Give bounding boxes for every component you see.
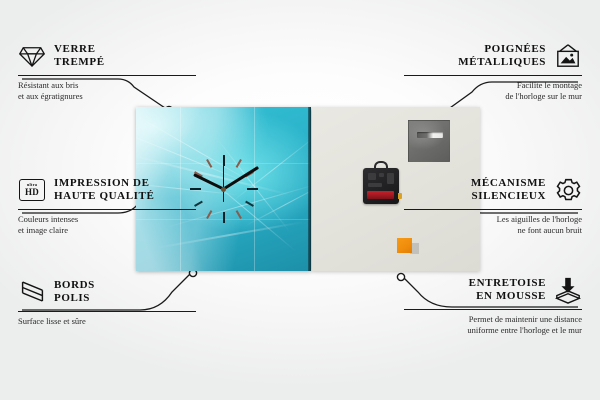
clock-mechanism (363, 168, 399, 204)
feature-rule (404, 309, 582, 310)
feature-description: Couleurs intenses et image claire (18, 214, 196, 236)
feature-title: VERRE TREMPÉ (54, 43, 105, 69)
feature-title: ENTRETOISE EN MOUSSE (469, 277, 546, 303)
feature-poignees-metalliques: POIGNÉES MÉTALLIQUES Facilite le montage… (404, 42, 582, 102)
feature-title: IMPRESSION DE HAUTE QUALITÉ (54, 177, 154, 203)
feature-description: Les aiguilles de l'horloge ne font aucun… (404, 214, 582, 236)
ultra-hd-icon: ultra HD (18, 176, 46, 204)
polished-edges-icon (18, 278, 46, 306)
feature-description: Résistant aux bris et aux égratignures (18, 80, 196, 102)
infographic-canvas: VERRE TREMPÉ Résistant aux bris et aux é… (0, 0, 600, 400)
feature-title: POIGNÉES MÉTALLIQUES (458, 43, 546, 69)
battery (367, 191, 394, 199)
feature-description: Facilite le montage de l'horloge sur le … (404, 80, 582, 102)
foam-spacer-icon (554, 276, 582, 304)
picture-frame-icon (554, 42, 582, 70)
feature-entretoise-en-mousse: ENTRETOISE EN MOUSSE Permet de maintenir… (404, 276, 582, 336)
feature-rule (18, 75, 196, 76)
feature-mecanisme-silencieux: MÉCANISME SILENCIEUX Les aiguilles de l'… (404, 176, 582, 236)
feature-title: MÉCANISME SILENCIEUX (471, 177, 546, 203)
metal-hanger-plate (408, 120, 450, 162)
feature-rule (18, 209, 196, 210)
gear-icon (554, 176, 582, 204)
feature-rule (404, 75, 582, 76)
clock-center-cap (221, 187, 226, 192)
clock-second-hand (223, 156, 224, 202)
feature-description: Surface lisse et sûre (18, 316, 196, 327)
ultra-hd-icon-main-text: HD (25, 188, 39, 197)
feature-description: Permet de maintenir une distance uniform… (404, 314, 582, 336)
diamond-icon (18, 42, 46, 70)
feature-bords-polis: BORDS POLIS Surface lisse et sûre (18, 278, 196, 327)
foam-spacer (397, 238, 412, 253)
feature-impression-haute-qualite: ultra HD IMPRESSION DE HAUTE QUALITÉ Cou… (18, 176, 196, 236)
feature-title: BORDS POLIS (54, 279, 95, 305)
feature-verre-trempe: VERRE TREMPÉ Résistant aux bris et aux é… (18, 42, 196, 102)
feature-rule (404, 209, 582, 210)
feature-rule (18, 311, 196, 312)
